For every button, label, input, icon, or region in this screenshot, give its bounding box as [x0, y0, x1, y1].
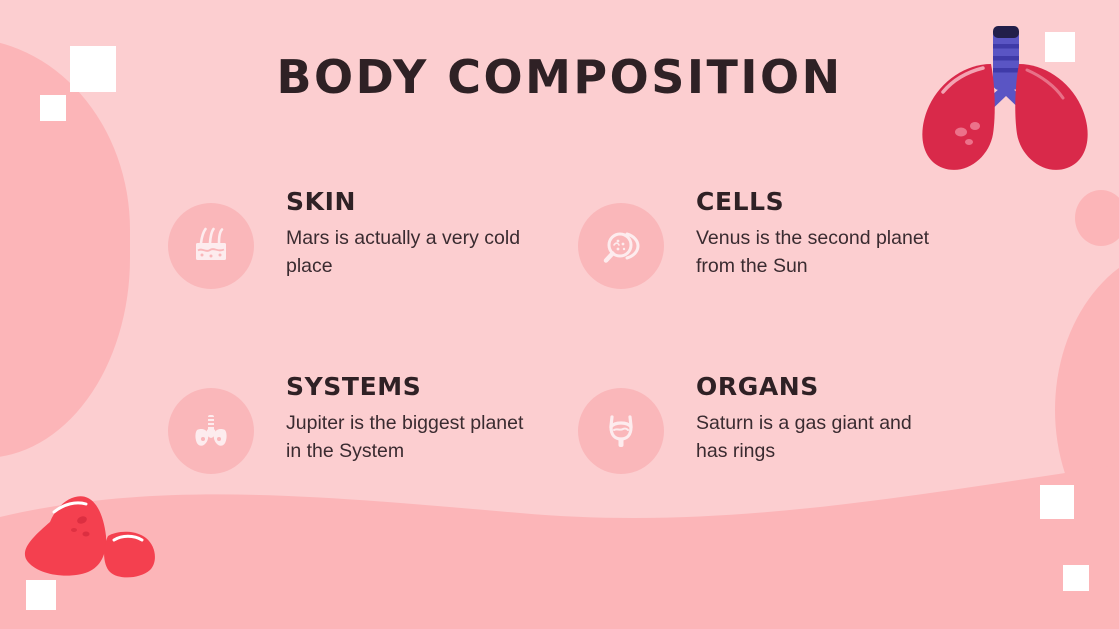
feature-text-organs: ORGANS Saturn is a gas giant and has rin…: [664, 370, 958, 465]
feature-text-systems: SYSTEMS Jupiter is the biggest planet in…: [254, 370, 578, 465]
feature-grid: SKIN Mars is actually a very cold place: [168, 185, 958, 474]
feature-description-skin: Mars is actually a very cold place: [286, 224, 531, 280]
feature-description-cells: Venus is the second planet from the Sun: [696, 224, 941, 280]
feature-icon-circle-skin: [168, 203, 254, 289]
feature-item-organs[interactable]: ORGANS Saturn is a gas giant and has rin…: [578, 370, 958, 474]
feature-title-skin: SKIN: [286, 187, 578, 216]
feature-item-cells[interactable]: CELLS Venus is the second planet from th…: [578, 185, 958, 370]
feature-item-systems[interactable]: SYSTEMS Jupiter is the biggest planet in…: [168, 370, 578, 474]
liver-illustration: [18, 480, 168, 590]
feature-icon-circle-systems: [168, 388, 254, 474]
feature-text-skin: SKIN Mars is actually a very cold place: [254, 185, 578, 280]
slide-canvas: BODY COMPOSITION SKIN Mars is actually: [0, 0, 1119, 629]
feature-title-systems: SYSTEMS: [286, 372, 578, 401]
feature-icon-circle-cells: [578, 203, 664, 289]
feature-title-organs: ORGANS: [696, 372, 958, 401]
feature-description-systems: Jupiter is the biggest planet in the Sys…: [286, 409, 531, 465]
page-title: BODY COMPOSITION: [0, 50, 1119, 104]
feature-icon-circle-organs: [578, 388, 664, 474]
feature-item-skin[interactable]: SKIN Mars is actually a very cold place: [168, 185, 578, 370]
bladder-icon: [599, 409, 643, 453]
background-blob-right-small: [1075, 190, 1119, 246]
cell-magnifier-icon: [599, 224, 643, 268]
feature-description-organs: Saturn is a gas giant and has rings: [696, 409, 941, 465]
feature-text-cells: CELLS Venus is the second planet from th…: [664, 185, 958, 280]
skin-layers-icon: [189, 224, 233, 268]
feature-title-cells: CELLS: [696, 187, 958, 216]
pelvis-bone-icon: [189, 409, 233, 453]
